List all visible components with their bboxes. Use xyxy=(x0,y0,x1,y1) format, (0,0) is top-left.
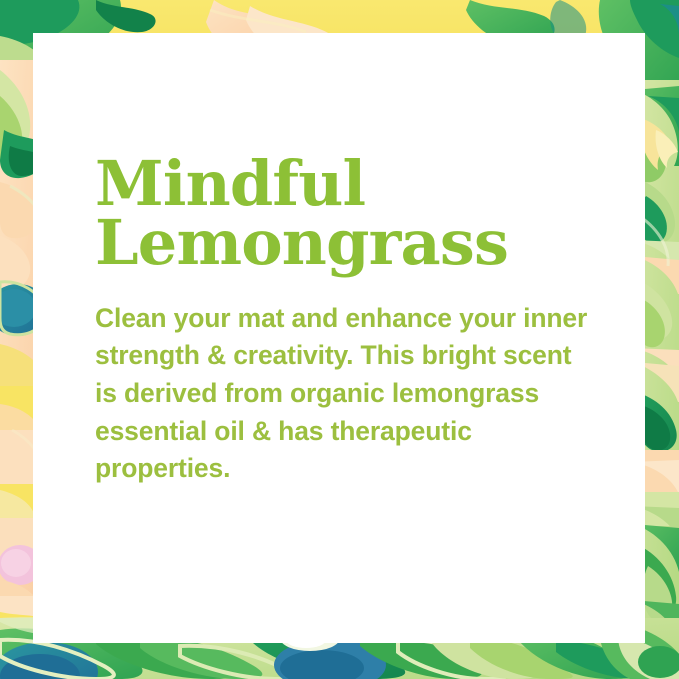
product-description: Clean your mat and enhance your inner st… xyxy=(95,274,590,488)
product-label-image: Mindful Lemongrass Clean your mat and en… xyxy=(0,0,679,679)
label-copy-block: Mindful Lemongrass Clean your mat and en… xyxy=(95,153,595,488)
product-title-line-2: Lemongrass xyxy=(95,212,595,273)
product-label-card: Mindful Lemongrass Clean your mat and en… xyxy=(33,33,645,643)
product-title-line-1: Mindful xyxy=(95,153,595,214)
